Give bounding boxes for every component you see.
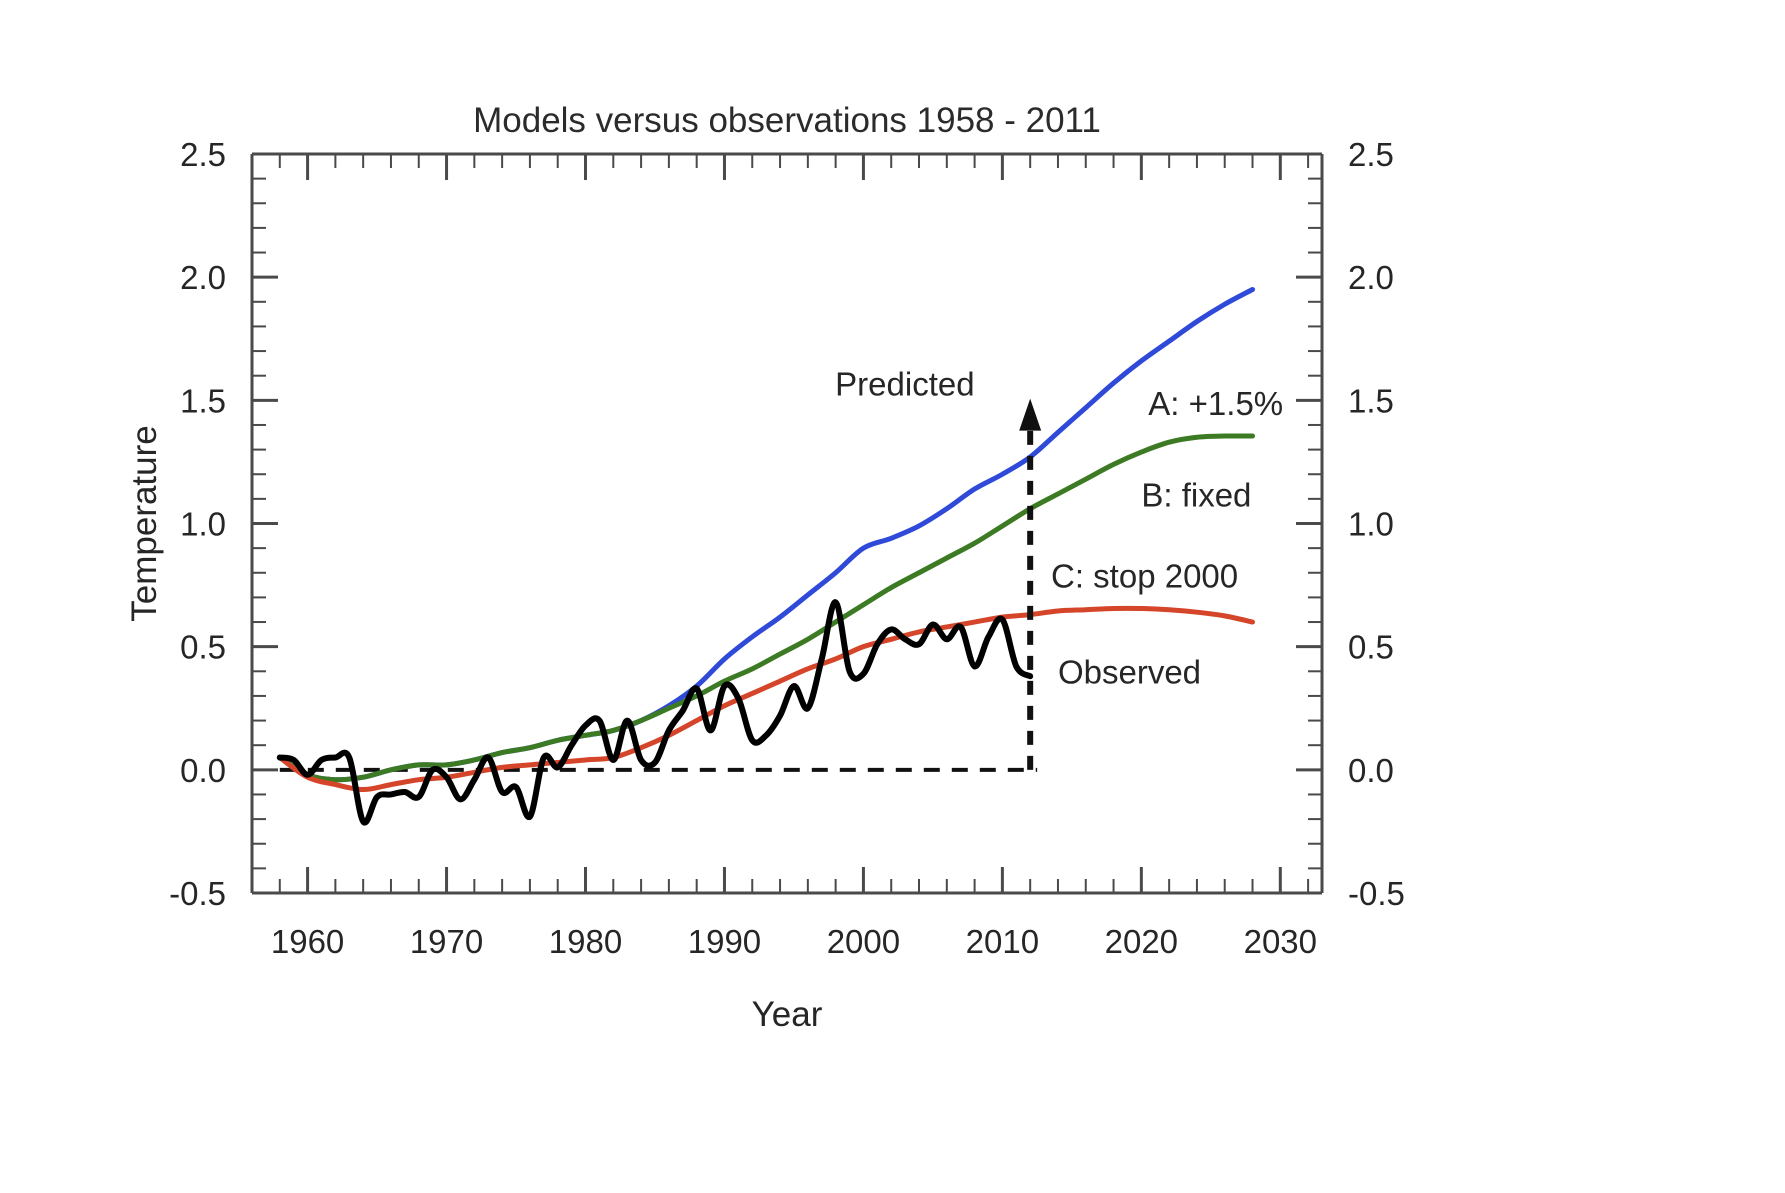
series-label-c: C: stop 2000 — [1051, 558, 1238, 595]
y-tick-label-right: 2.0 — [1348, 259, 1394, 296]
x-tick-label: 1990 — [688, 923, 761, 960]
y-tick-label-right: 2.5 — [1348, 136, 1394, 173]
y-tick-label: 0.0 — [180, 752, 226, 789]
series-line-a — [280, 289, 1253, 779]
series-label-b: B: fixed — [1141, 476, 1251, 513]
y-tick-label-right: 0.5 — [1348, 629, 1394, 666]
x-axis-title: Year — [752, 995, 823, 1034]
chart-title: Models versus observations 1958 - 2011 — [473, 101, 1101, 140]
y-tick-label: 1.5 — [180, 382, 226, 419]
y-tick-label-right: 1.0 — [1348, 506, 1394, 543]
y-tick-label-right: 1.5 — [1348, 382, 1394, 419]
x-tick-label: 2000 — [827, 923, 900, 960]
y-tick-label: -0.5 — [169, 875, 226, 912]
data-series-group — [280, 289, 1253, 822]
series-labels-group: A: +1.5%B: fixedC: stop 2000 — [1051, 385, 1283, 594]
series-label-a: A: +1.5% — [1148, 385, 1283, 422]
x-tick-label: 2010 — [966, 923, 1039, 960]
x-tick-label: 1970 — [410, 923, 483, 960]
axis-tick-labels: -0.5-0.50.00.00.50.51.01.01.51.52.02.02.… — [169, 136, 1405, 960]
y-axis-title: Temperature — [125, 425, 164, 621]
predicted-annotation: Predicted — [835, 365, 974, 402]
y-tick-label: 2.0 — [180, 259, 226, 296]
y-tick-label: 0.5 — [180, 629, 226, 666]
x-tick-label: 1980 — [549, 923, 622, 960]
observed-annotation: Observed — [1058, 654, 1201, 691]
predicted-arrow-head — [1019, 399, 1041, 431]
chart-figure: Models versus observations 1958 - 2011 -… — [0, 0, 1785, 1193]
y-tick-label: 2.5 — [180, 136, 226, 173]
chart-svg: Models versus observations 1958 - 2011 -… — [0, 0, 1785, 1193]
x-tick-label: 2020 — [1105, 923, 1178, 960]
y-tick-label-right: -0.5 — [1348, 875, 1405, 912]
x-tick-label: 1960 — [271, 923, 344, 960]
x-tick-label: 2030 — [1244, 923, 1317, 960]
chart-title-group: Models versus observations 1958 - 2011 — [473, 101, 1101, 140]
y-tick-label-right: 0.0 — [1348, 752, 1394, 789]
y-tick-label: 1.0 — [180, 506, 226, 543]
